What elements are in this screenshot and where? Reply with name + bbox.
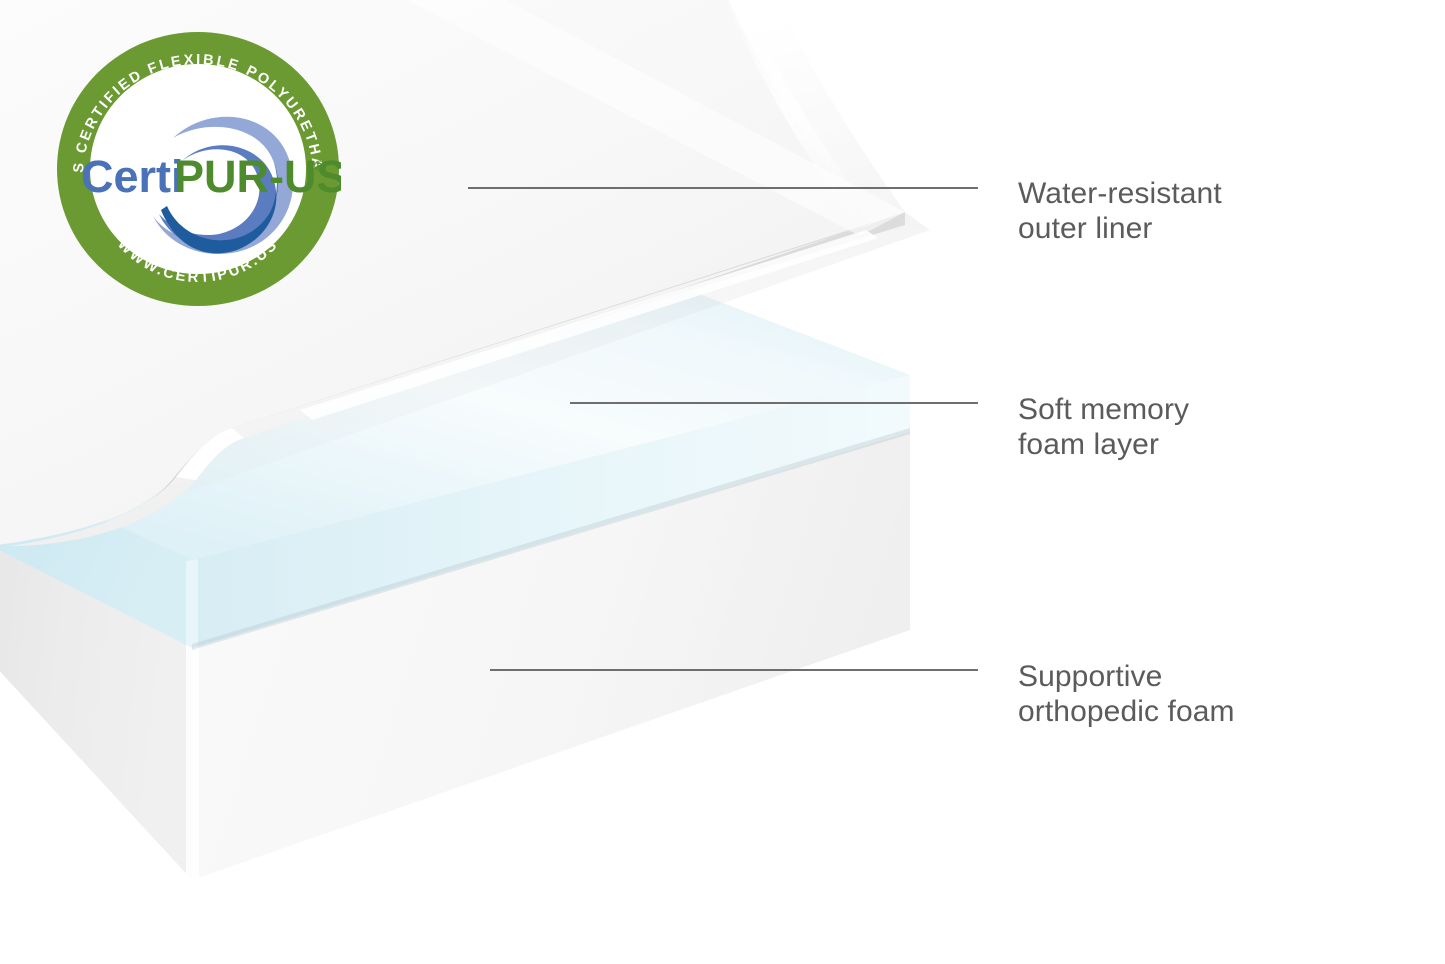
badge-registered-mark-icon: ® [314, 158, 325, 175]
certipur-us-badge: CONTAINS CERTIFIED FLEXIBLE POLYURETHANE… [55, 30, 341, 308]
certipur-us-seal-graphic: CONTAINS CERTIFIED FLEXIBLE POLYURETHANE… [55, 30, 341, 308]
base-foam-corner-highlight [186, 639, 199, 882]
badge-wordmark-certi: Certi [81, 151, 184, 202]
badge-wordmark: Certi PUR-US ® [81, 151, 341, 202]
callout-label-outer-liner: Water-resistant outer liner [1018, 176, 1222, 247]
callout-label-memory-foam: Soft memory foam layer [1018, 392, 1189, 463]
mattress-layer-diagram: CONTAINS CERTIFIED FLEXIBLE POLYURETHANE… [0, 0, 1445, 964]
memory-foam-corner-highlight [186, 559, 198, 650]
callout-label-orthopedic-foam: Supportive orthopedic foam [1018, 659, 1235, 730]
